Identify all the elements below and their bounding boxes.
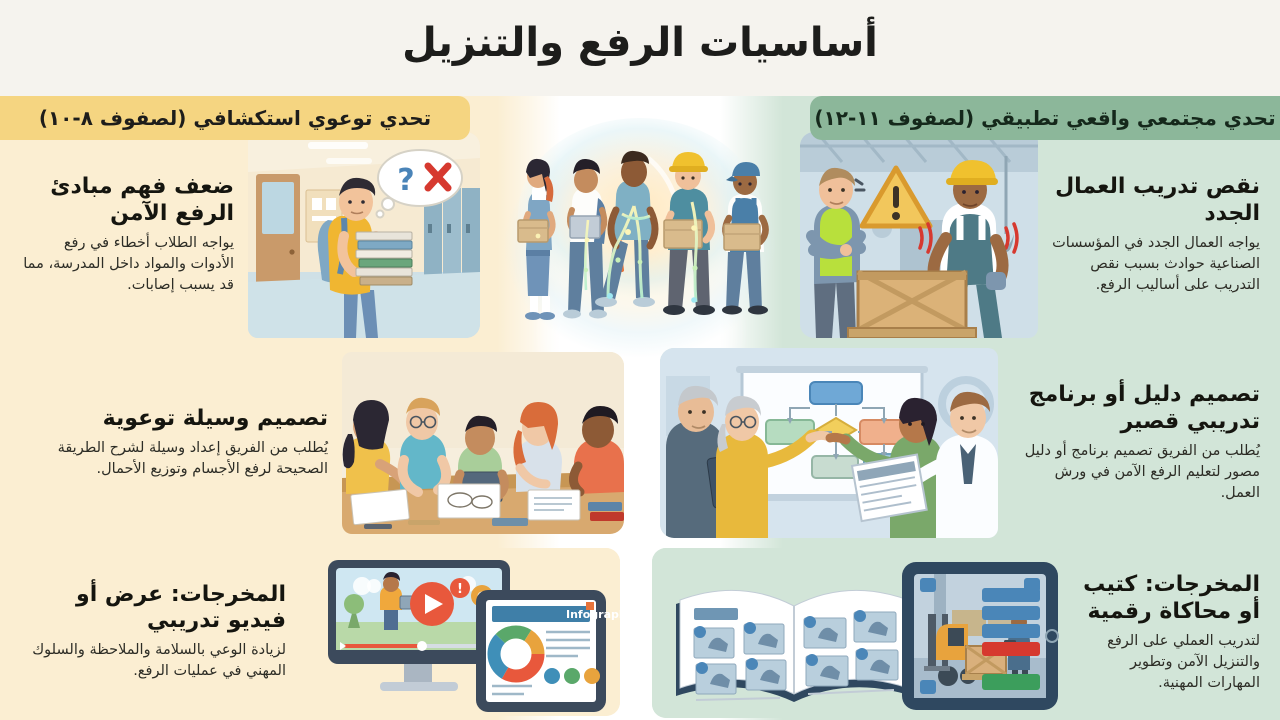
card-left-2-text: تصميم وسيلة توعوية يُطلب من الفريق إعداد… <box>14 352 342 534</box>
svg-text:?: ? <box>397 163 414 198</box>
svg-text:!: ! <box>457 582 463 597</box>
card-left-1-body: يواجه الطلاب أخطاء في رفع الأدوات والموا… <box>22 233 234 296</box>
card-left-3-body: لزيادة الوعي بالسلامة والملاحظة والسلوك … <box>28 640 286 682</box>
factory-worker-lifting-crate-illustration <box>800 132 1038 338</box>
card-right-3-text: المخرجات: كتيب أو محاكاة رقمية لتدريب ال… <box>1064 548 1274 718</box>
card-left-3-title: المخرجات: عرض أو فيديو تدريبي <box>28 582 286 636</box>
card-right-3-body: لتدريب العملي على الرفع والتنزيل الآمن و… <box>1078 631 1260 694</box>
page-title: أساسيات الرفع والتنزيل <box>0 20 1280 66</box>
left-column-banner: تحدي توعوي استكشافي (لصفوف ٨-١٠) <box>0 96 470 140</box>
card-right-2-text: تصميم دليل أو برنامج تدريبي قصير يُطلب م… <box>998 348 1274 538</box>
card-left-3-text: المخرجات: عرض أو فيديو تدريبي لزيادة الو… <box>14 548 300 716</box>
booklet-and-forklift-simulation-illustration <box>652 548 1064 718</box>
card-right-2-body: يُطلب من الفريق تصميم برنامج أو دليل مصو… <box>1012 441 1260 504</box>
card-right-1-title: نقص تدريب العمال الجدد <box>1052 174 1260 228</box>
right-column-banner: تحدي مجتمعي واقعي تطبيقي (لصفوف ١١-١٢) <box>810 96 1280 140</box>
card-left-1-text: ضعف فهم مبادئ الرفع الآمن يواجه الطلاب أ… <box>8 132 248 338</box>
card-left-3: ! Infographic <box>14 548 620 716</box>
card-left-1: ? ضعف فهم مبادئ الرفع الآمن يواجه الطلاب… <box>8 132 480 338</box>
card-left-2: تصميم وسيلة توعوية يُطلب من الفريق إعداد… <box>14 352 624 534</box>
card-right-1-text: نقص تدريب العمال الجدد يواجه العمال الجد… <box>1038 132 1274 338</box>
card-right-1: نقص تدريب العمال الجدد يواجه العمال الجد… <box>800 132 1274 338</box>
card-right-2: تصميم دليل أو برنامج تدريبي قصير يُطلب م… <box>660 348 1274 538</box>
card-left-2-body: يُطلب من الفريق إعداد وسيلة لشرح الطريقة… <box>28 438 328 480</box>
card-right-3: المخرجات: كتيب أو محاكاة رقمية لتدريب ال… <box>652 548 1274 718</box>
progression-of-lifters-illustration <box>488 110 792 340</box>
card-right-1-body: يواجه العمال الجدد في المؤسسات الصناعية … <box>1052 233 1260 296</box>
student-carrying-books-in-hallway-illustration: ? <box>248 132 480 338</box>
card-right-2-title: تصميم دليل أو برنامج تدريبي قصير <box>1012 382 1260 436</box>
figure-schoolgirl <box>518 159 555 320</box>
card-left-2-title: تصميم وسيلة توعوية <box>28 406 328 433</box>
monitor-video-and-tablet-infographic-illustration: ! Infographic <box>300 548 620 716</box>
card-right-3-title: المخرجات: كتيب أو محاكاة رقمية <box>1078 572 1260 626</box>
students-team-working-at-table-illustration <box>342 352 624 534</box>
infographic-page: أساسيات الرفع والتنزيل تحدي توعوي استكشا… <box>0 0 1280 720</box>
team-presenting-flowchart-illustration <box>660 348 998 538</box>
card-left-1-title: ضعف فهم مبادئ الرفع الآمن <box>22 174 234 228</box>
